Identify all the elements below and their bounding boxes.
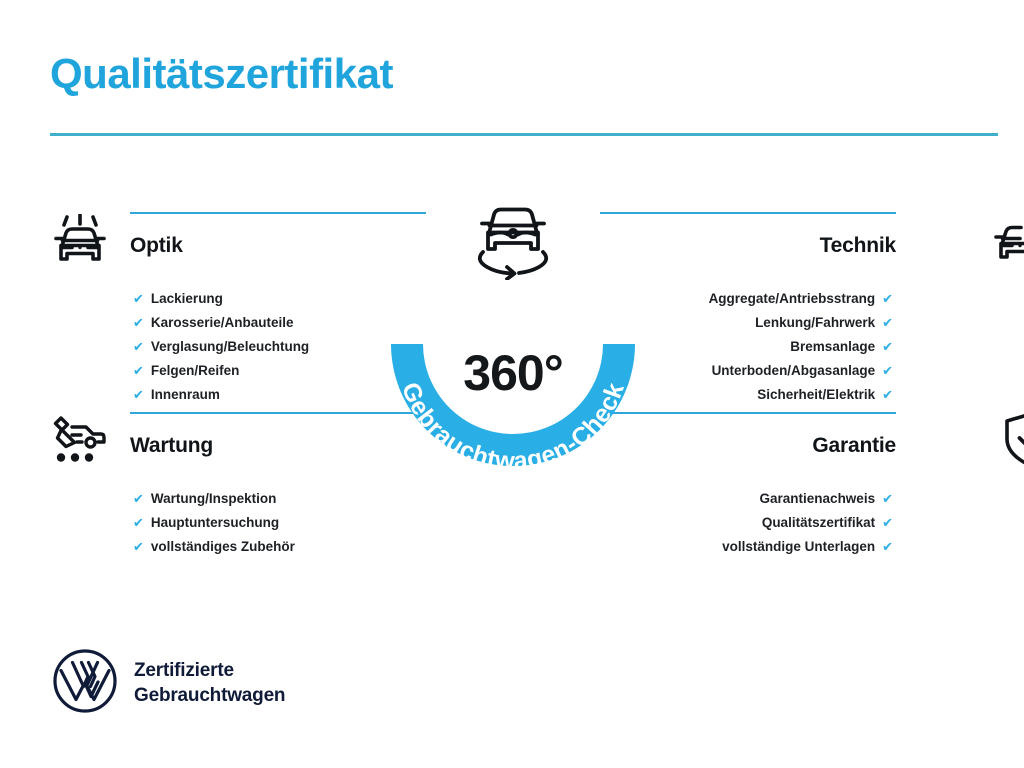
list-item: ✔Felgen/Reifen — [48, 359, 378, 383]
list-item-label: Wartung/Inspektion — [151, 487, 277, 511]
section-header-optik: Optik — [48, 212, 378, 268]
check-icon: ✔ — [133, 535, 144, 559]
list-item-label: Innenraum — [151, 383, 220, 407]
section-title-technik: Technik — [820, 234, 896, 258]
list-item: ✔Verglasung/Beleuchtung — [48, 335, 378, 359]
check-icon: ✔ — [882, 383, 893, 407]
certificate-page: Qualitätszertifikat Optik — [0, 0, 1024, 768]
brand-line-2: Gebrauchtwagen — [134, 684, 285, 708]
check-icon: ✔ — [882, 335, 893, 359]
checklist-garantie: Garantienachweis✔ Qualitätszertifikat✔ v… — [648, 487, 978, 559]
section-header-technik: Technik — [648, 212, 978, 268]
check-icon: ✔ — [133, 311, 144, 335]
checklist-technik: Aggregate/Antriebsstrang✔ Lenkung/Fahrwe… — [648, 287, 978, 407]
list-item: Qualitätszertifikat✔ — [648, 511, 978, 535]
list-item-label: Garantienachweis — [760, 487, 876, 511]
check-icon: ✔ — [133, 511, 144, 535]
check-icon: ✔ — [133, 383, 144, 407]
list-item: ✔Karosserie/Anbauteile — [48, 311, 378, 335]
list-item-label: Bremsanlage — [790, 335, 875, 359]
list-item-label: Sicherheit/Elektrik — [757, 383, 875, 407]
list-item: ✔Innenraum — [48, 383, 378, 407]
section-wartung: Wartung ✔Wartung/Inspektion ✔Hauptunters… — [48, 412, 378, 559]
list-item-label: Aggregate/Antriebsstrang — [709, 287, 876, 311]
section-title-wartung: Wartung — [130, 434, 213, 458]
section-header-garantie: Garantie — [648, 412, 978, 468]
brand-text: Zertifizierte Gebrauchtwagen — [134, 659, 285, 708]
list-item-label: Lackierung — [151, 287, 223, 311]
vw-logo — [52, 648, 118, 719]
vw-brand-lockup: Zertifizierte Gebrauchtwagen — [52, 648, 285, 719]
service-record-pen-car-icon — [48, 412, 122, 468]
list-item-label: Felgen/Reifen — [151, 359, 240, 383]
section-technik: Technik Aggregate/Antriebsstrang✔ Lenkun… — [648, 212, 978, 407]
check-icon: ✔ — [133, 287, 144, 311]
section-title-optik: Optik — [130, 234, 183, 258]
list-item: Bremsanlage✔ — [648, 335, 978, 359]
shield-check-icon — [982, 412, 1024, 468]
check-icon: ✔ — [882, 287, 893, 311]
list-item: ✔Hauptuntersuchung — [48, 511, 378, 535]
car-front-checkbox-icon — [982, 212, 1024, 268]
check-icon: ✔ — [133, 359, 144, 383]
checklist-optik: ✔Lackierung ✔Karosserie/Anbauteile ✔Verg… — [48, 287, 378, 407]
list-item: ✔Wartung/Inspektion — [48, 487, 378, 511]
check-icon: ✔ — [133, 487, 144, 511]
brand-line-1: Zertifizierte — [134, 659, 285, 683]
list-item-label: Karosserie/Anbauteile — [151, 311, 294, 335]
header-divider — [50, 133, 998, 136]
check-icon: ✔ — [882, 359, 893, 383]
list-item-label: Lenkung/Fahrwerk — [755, 311, 875, 335]
check-icon: ✔ — [882, 535, 893, 559]
car-front-shine-icon — [48, 212, 122, 268]
list-item-label: Verglasung/Beleuchtung — [151, 335, 309, 359]
list-item: Garantienachweis✔ — [648, 487, 978, 511]
list-item: Lenkung/Fahrwerk✔ — [648, 311, 978, 335]
list-item-label: Hauptuntersuchung — [151, 511, 279, 535]
page-title: Qualitätszertifikat — [50, 52, 393, 96]
check-icon: ✔ — [133, 335, 144, 359]
360-check-badge: Gebrauchtwagen-Check 360° — [370, 196, 656, 486]
check-icon: ✔ — [882, 511, 893, 535]
list-item: ✔Lackierung — [48, 287, 378, 311]
badge-value: 360° — [370, 344, 656, 402]
section-optik: Optik ✔Lackierung ✔Karosserie/Anbauteile… — [48, 212, 378, 407]
list-item: Aggregate/Antriebsstrang✔ — [648, 287, 978, 311]
section-header-wartung: Wartung — [48, 412, 378, 468]
list-item-label: vollständige Unterlagen — [722, 535, 875, 559]
list-item-label: Unterboden/Abgasanlage — [712, 359, 876, 383]
section-title-garantie: Garantie — [812, 434, 896, 458]
check-icon: ✔ — [882, 487, 893, 511]
section-garantie: Garantie Garantienachweis✔ Qualitätszert… — [648, 412, 978, 559]
list-item: Sicherheit/Elektrik✔ — [648, 383, 978, 407]
list-item: Unterboden/Abgasanlage✔ — [648, 359, 978, 383]
list-item: vollständige Unterlagen✔ — [648, 535, 978, 559]
checklist-wartung: ✔Wartung/Inspektion ✔Hauptuntersuchung ✔… — [48, 487, 378, 559]
list-item-label: Qualitätszertifikat — [762, 511, 875, 535]
check-icon: ✔ — [882, 311, 893, 335]
list-item: ✔vollständiges Zubehör — [48, 535, 378, 559]
list-item-label: vollständiges Zubehör — [151, 535, 295, 559]
